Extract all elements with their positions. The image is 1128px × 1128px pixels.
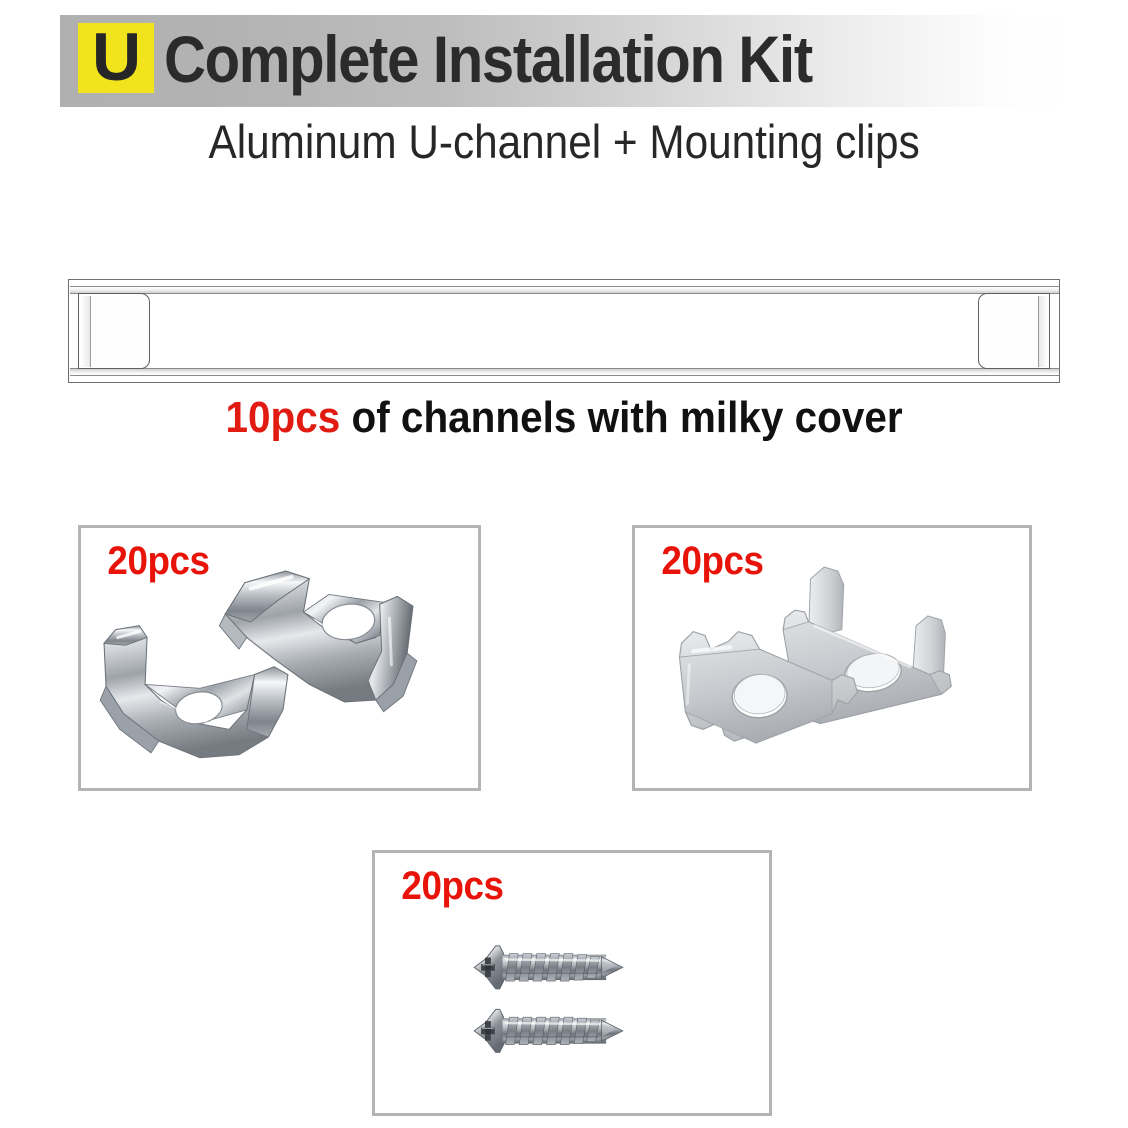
page-subtitle: Aluminum U-channel + Mounting clips: [0, 114, 1128, 170]
channel-endcap-left: [78, 293, 150, 369]
header-banner: U Complete Installation Kit: [60, 15, 1070, 107]
qty-badge-screws: 20pcs: [397, 863, 508, 909]
channel-qty: 10pcs: [225, 393, 340, 442]
screw-upper: [474, 946, 623, 989]
product-box-screws: 20pcs: [372, 850, 772, 1116]
channel-caption: 10pcs of channels with milky cover: [0, 392, 1128, 444]
u-letter-badge: U: [78, 23, 154, 93]
channel-caption-text: of channels with milky cover: [340, 393, 902, 442]
channel-top-rail: [70, 286, 1059, 294]
screw-lower: [474, 1009, 623, 1052]
page-title: Complete Installation Kit: [164, 21, 812, 97]
qty-badge-mounting-clips: 20pcs: [103, 538, 214, 584]
page-subtitle-text: Aluminum U-channel + Mounting clips: [208, 114, 919, 170]
product-box-end-caps: 20pcs: [632, 525, 1032, 791]
qty-badge-end-caps: 20pcs: [657, 538, 768, 584]
channel-endcap-left-edge: [81, 296, 91, 367]
product-box-mounting-clips: 20pcs: [78, 525, 481, 791]
aluminum-channel-illustration: [68, 279, 1060, 383]
channel-endcap-right-edge: [1038, 296, 1048, 367]
channel-bottom-rail: [70, 368, 1059, 376]
channel-endcap-right: [978, 293, 1050, 369]
